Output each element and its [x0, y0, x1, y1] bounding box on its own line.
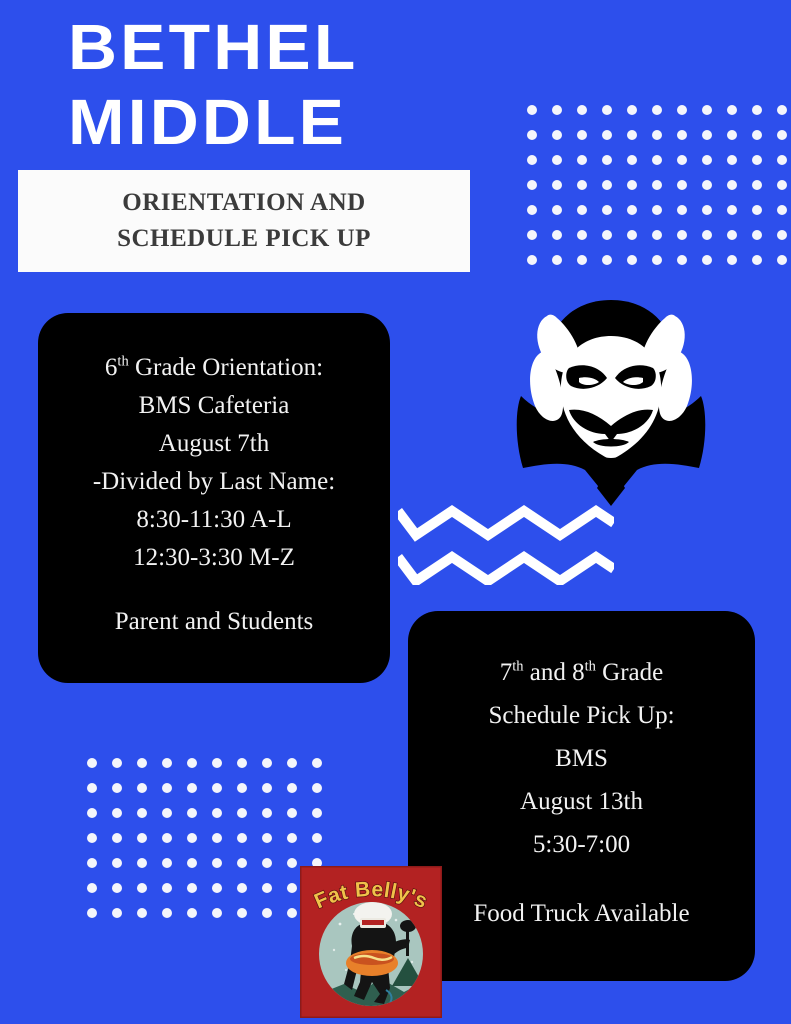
dot [644, 222, 669, 247]
dot [229, 850, 254, 875]
dot [594, 197, 619, 222]
dot [769, 147, 791, 172]
dot [769, 247, 791, 272]
dot [669, 147, 694, 172]
dot [129, 875, 154, 900]
dot [669, 247, 694, 272]
dot [79, 775, 104, 800]
dot [744, 247, 769, 272]
dot [254, 850, 279, 875]
grade6-line-2: BMS Cafeteria [50, 387, 378, 425]
dot [179, 875, 204, 900]
dot [769, 172, 791, 197]
dot [154, 800, 179, 825]
dot [744, 172, 769, 197]
dot [304, 825, 329, 850]
dot [129, 850, 154, 875]
dot [569, 222, 594, 247]
dot [719, 97, 744, 122]
dot [104, 825, 129, 850]
dot [769, 197, 791, 222]
dot [669, 172, 694, 197]
dot [694, 122, 719, 147]
dot [79, 850, 104, 875]
dot [179, 775, 204, 800]
grade78-line-2: Schedule Pick Up: [420, 694, 743, 737]
dot [154, 750, 179, 775]
dot [204, 900, 229, 925]
dot [279, 750, 304, 775]
dot [719, 147, 744, 172]
dot [544, 222, 569, 247]
subtitle-banner: ORIENTATION AND SCHEDULE PICK UP [18, 170, 470, 272]
dot [544, 97, 569, 122]
dot [519, 97, 544, 122]
dot [304, 775, 329, 800]
grade6-info-panel: 6th Grade Orientation: BMS Cafeteria Aug… [38, 313, 390, 683]
dot [129, 825, 154, 850]
dot [669, 122, 694, 147]
dot [104, 800, 129, 825]
dot [594, 222, 619, 247]
dot [644, 147, 669, 172]
dot [569, 147, 594, 172]
dot [254, 900, 279, 925]
dot [204, 750, 229, 775]
dot [644, 172, 669, 197]
dot [179, 825, 204, 850]
dot [544, 197, 569, 222]
dot [544, 122, 569, 147]
subtitle-line-1: ORIENTATION AND [122, 185, 365, 221]
dot [744, 122, 769, 147]
dot [104, 850, 129, 875]
dot [569, 122, 594, 147]
grade6-line-6: 12:30-3:30 M-Z [50, 539, 378, 577]
dot [79, 800, 104, 825]
dot [719, 222, 744, 247]
dot [694, 97, 719, 122]
dot [594, 247, 619, 272]
dot [619, 172, 644, 197]
dot [519, 172, 544, 197]
dot [744, 147, 769, 172]
dot [229, 900, 254, 925]
dot [569, 97, 594, 122]
dot [619, 222, 644, 247]
dot [644, 97, 669, 122]
dot [619, 122, 644, 147]
dot [79, 875, 104, 900]
dot [154, 875, 179, 900]
dot [694, 247, 719, 272]
dot [644, 122, 669, 147]
dot [619, 247, 644, 272]
dot [279, 775, 304, 800]
dot [744, 97, 769, 122]
dot [769, 97, 791, 122]
grade78-line-3: BMS [420, 737, 743, 780]
dot [744, 222, 769, 247]
dot [179, 900, 204, 925]
dot [79, 750, 104, 775]
dot [129, 800, 154, 825]
dot [179, 800, 204, 825]
dot [719, 247, 744, 272]
dot [79, 900, 104, 925]
dot [569, 172, 594, 197]
fat-bellys-logo-icon: Fat Belly's [300, 866, 442, 1018]
dot [204, 825, 229, 850]
dot [544, 247, 569, 272]
dot [229, 825, 254, 850]
dot [669, 222, 694, 247]
headline-line-2: MIDDLE [68, 91, 513, 154]
dot [694, 197, 719, 222]
dot [229, 775, 254, 800]
subtitle-line-2: SCHEDULE PICK UP [117, 221, 371, 257]
blue-devil-mascot-icon [513, 292, 709, 506]
dot [104, 875, 129, 900]
grade6-line-1: 6th Grade Orientation: [50, 349, 378, 387]
dot [129, 750, 154, 775]
dot [519, 197, 544, 222]
grade6-line-7: Parent and Students [50, 603, 378, 641]
dot [154, 825, 179, 850]
dot [304, 750, 329, 775]
grade78-line-6: Food Truck Available [420, 892, 743, 935]
dot [594, 147, 619, 172]
dot [254, 800, 279, 825]
dot [154, 850, 179, 875]
dot [304, 800, 329, 825]
dot [619, 97, 644, 122]
dot [669, 197, 694, 222]
dot [79, 825, 104, 850]
dot [229, 800, 254, 825]
dot [254, 750, 279, 775]
dot [129, 900, 154, 925]
dot [544, 147, 569, 172]
dot [104, 775, 129, 800]
dot [694, 147, 719, 172]
dot [254, 875, 279, 900]
dot [229, 750, 254, 775]
dot [254, 775, 279, 800]
headline-line-1: BETHEL [68, 16, 513, 79]
dot-grid-bottom-left [79, 750, 329, 925]
dot [719, 197, 744, 222]
dot [644, 247, 669, 272]
grade6-line-5: 8:30-11:30 A-L [50, 501, 378, 539]
dot [719, 172, 744, 197]
zigzag-divider-icon [398, 505, 614, 585]
page-title: BETHEL MIDDLE [68, 16, 488, 153]
dot [569, 247, 594, 272]
dot [179, 850, 204, 875]
dot [769, 222, 791, 247]
dot [544, 172, 569, 197]
dot [179, 750, 204, 775]
dot [104, 900, 129, 925]
grade78-line-1: 7th and 8th Grade [420, 651, 743, 694]
dot [154, 775, 179, 800]
dot [744, 197, 769, 222]
dot [719, 122, 744, 147]
flyer-canvas: BETHEL MIDDLE ORIENTATION AND SCHEDULE P… [0, 0, 791, 1024]
grade78-line-4: August 13th [420, 780, 743, 823]
dot [519, 222, 544, 247]
dot [279, 825, 304, 850]
dot [694, 172, 719, 197]
dot [594, 97, 619, 122]
dot [694, 222, 719, 247]
dot [254, 825, 279, 850]
dot [769, 122, 791, 147]
dot [619, 197, 644, 222]
dot [204, 775, 229, 800]
dot [619, 147, 644, 172]
grade6-line-4: -Divided by Last Name: [50, 463, 378, 501]
grade78-line-5: 5:30-7:00 [420, 823, 743, 866]
dot [229, 875, 254, 900]
dot-grid-top-right [519, 97, 791, 272]
dot [644, 197, 669, 222]
dot [519, 122, 544, 147]
dot [104, 750, 129, 775]
dot [154, 900, 179, 925]
dot [594, 122, 619, 147]
dot [204, 875, 229, 900]
grade78-info-panel: 7th and 8th Grade Schedule Pick Up: BMS … [408, 611, 755, 981]
dot [519, 247, 544, 272]
dot [594, 172, 619, 197]
dot [669, 97, 694, 122]
dot [519, 147, 544, 172]
dot [204, 800, 229, 825]
dot [279, 800, 304, 825]
dot [204, 850, 229, 875]
dot [569, 197, 594, 222]
grade6-line-3: August 7th [50, 425, 378, 463]
dot [129, 775, 154, 800]
